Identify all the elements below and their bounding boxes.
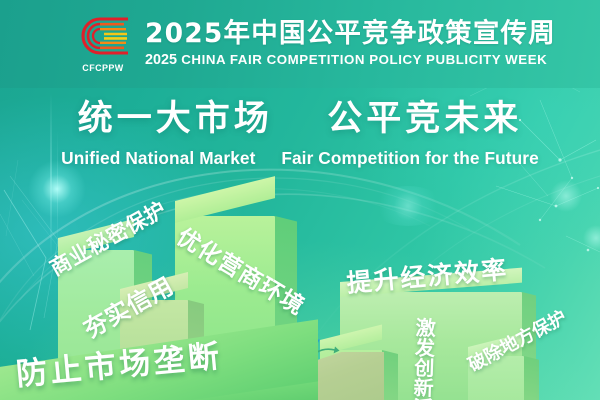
header-title-en-year: 2025: [145, 52, 177, 68]
slogan-en-left: Unified National Market: [61, 148, 255, 168]
header-titles: 2025年中国公平竞争政策宣传周 2025 CHINA FAIR COMPETI…: [145, 20, 556, 67]
logo-abbreviation: CFCPPW: [74, 63, 132, 73]
bar-scene: 优化营商环境 商业秘密保护 夯实信用 提升经济效率 公平审查制度: [0, 180, 600, 400]
logo[interactable]: CFCPPW: [74, 15, 132, 71]
slogan-cn-left: 统一大市场: [78, 99, 273, 139]
bar-side: [524, 356, 539, 400]
bar-label-innovation: 激发创新活力: [411, 318, 437, 400]
slogan-en-right: Fair Competition for the Future: [281, 148, 539, 168]
bar-side: [382, 350, 398, 400]
poster-canvas: CFCPPW 2025年中国公平竞争政策宣传周 2025 CHINA FAIR …: [0, 0, 600, 400]
slogan-block: 统一大市场 公平竞未来 Unified National Market Fair…: [0, 100, 600, 169]
header-title-en: 2025 CHINA FAIR COMPETITION POLICY PUBLI…: [145, 52, 556, 68]
slogan-cn: 统一大市场 公平竞未来: [0, 100, 600, 139]
cfcppw-arc-logo-icon: [74, 15, 132, 57]
slogan-cn-right: 公平竞未来: [327, 99, 522, 139]
header-bar: CFCPPW 2025年中国公平竞争政策宣传周 2025 CHINA FAIR …: [0, 0, 600, 88]
slogan-en: Unified National Market Fair Competition…: [0, 148, 600, 169]
header-title-cn: 2025年中国公平竞争政策宣传周: [145, 20, 556, 48]
header-title-en-rest: CHINA FAIR COMPETITION POLICY PUBLICITY …: [181, 52, 547, 67]
